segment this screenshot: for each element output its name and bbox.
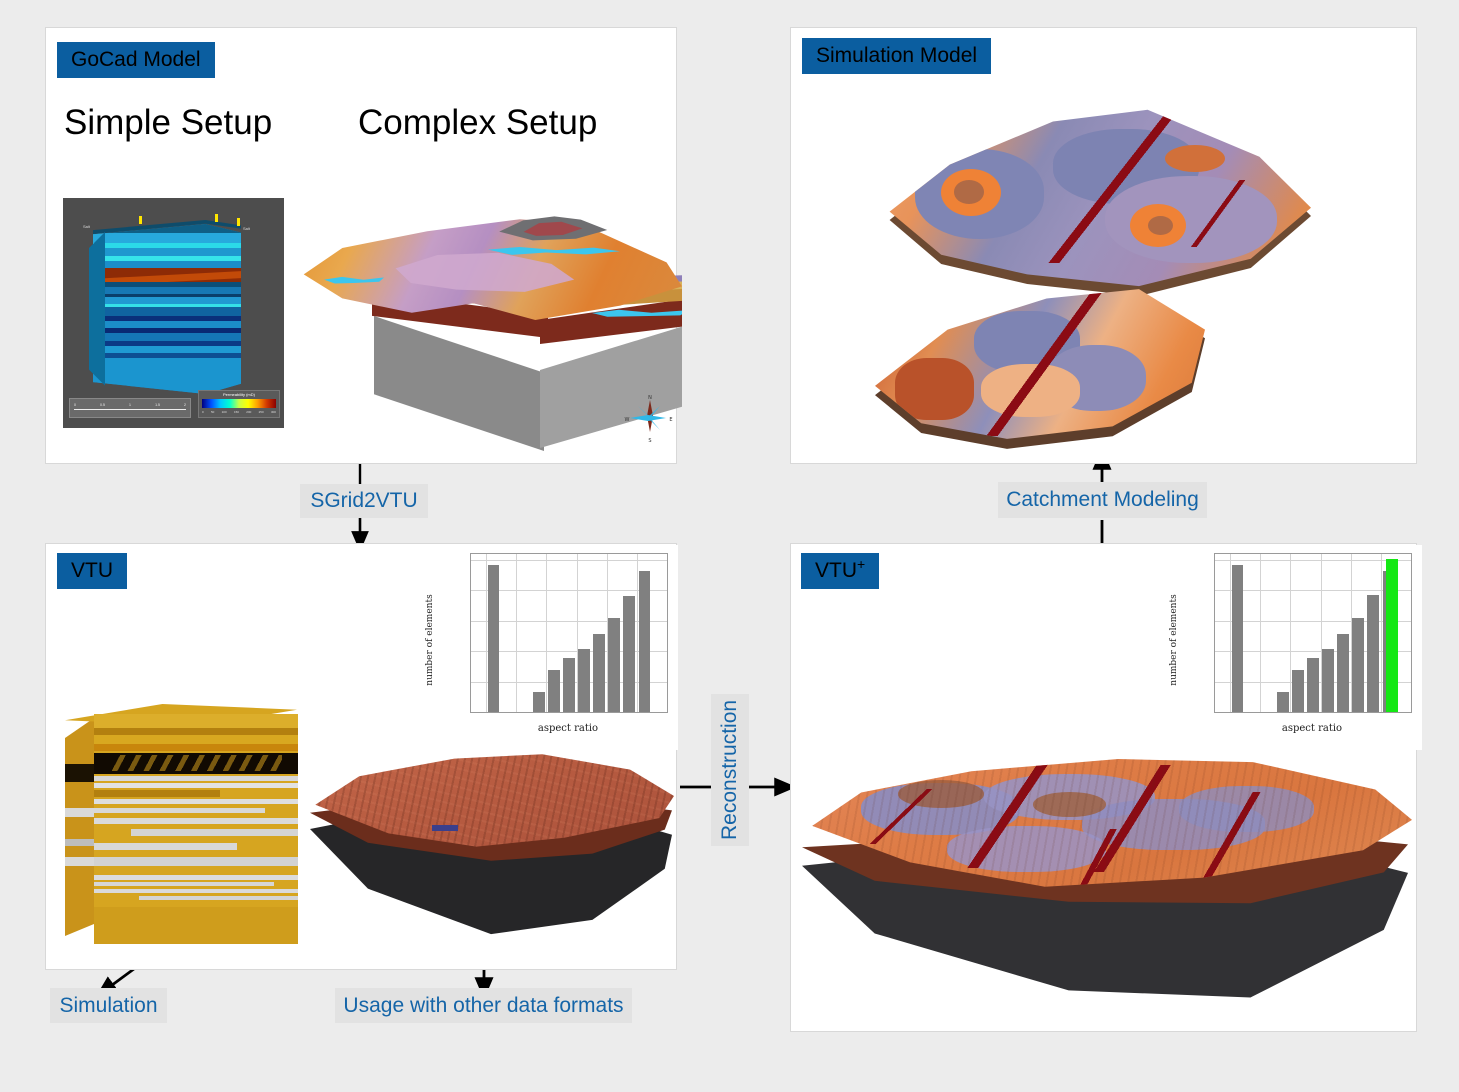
hist-y-axis-label: number of elements: [1169, 570, 1179, 710]
scale-bar: 00.511.52: [69, 398, 191, 418]
colorbar-title: Permeability (mD): [199, 392, 279, 397]
histogram-bar: [1337, 634, 1349, 712]
histogram-bar: [488, 565, 500, 712]
svg-text:N: N: [648, 395, 652, 401]
histogram-bar: [1277, 692, 1289, 712]
histogram-bar: [1322, 649, 1334, 712]
vtu-layered-block-render: [60, 688, 310, 960]
vtuplus-aspect-ratio-histogram: number of elements 10210310410510610−111…: [1152, 545, 1422, 750]
vtu-aspect-ratio-histogram: number of elements 10210310410510610−111…: [408, 545, 678, 750]
histogram-bar: [593, 634, 605, 712]
svg-text:S: S: [648, 438, 651, 444]
histogram-bar: [1352, 618, 1364, 712]
output-simulation[interactable]: Simulation: [50, 988, 167, 1023]
panel-title-vtu-plus: VTU+: [801, 553, 879, 589]
colorbar-ticks: 050100150200250300: [202, 410, 276, 415]
hist-x-axis-label: aspect ratio: [1214, 723, 1410, 734]
well-label-left: Salt: [83, 224, 90, 229]
histogram-bar: [533, 692, 545, 712]
process-catchment-modeling[interactable]: Catchment Modeling: [998, 482, 1207, 518]
compass-rose-icon: N E S W: [622, 392, 678, 444]
well-label-right: Salt: [243, 226, 250, 231]
hist-plot-area: 10210310410510610−1110−910−710−510−310−1…: [470, 553, 668, 713]
svg-text:W: W: [625, 417, 630, 423]
complex-setup-render: N E S W: [292, 196, 682, 458]
histogram-bar: [639, 571, 651, 712]
simple-setup-render: Salt Salt Permeability (mD) 050100150200…: [63, 198, 284, 428]
histogram-bar: [548, 670, 560, 712]
grid-line-vertical: [667, 554, 668, 712]
histogram-bar: [1292, 670, 1304, 712]
svg-text:E: E: [669, 417, 672, 423]
process-sgrid2vtu[interactable]: SGrid2VTU: [300, 484, 428, 518]
colorbar-ramp: [202, 399, 276, 408]
hist-plot-area: 10210310410510610−1110−910−710−510−310−1…: [1214, 553, 1412, 713]
histogram-bar: [1386, 559, 1398, 712]
panel-title-vtu: VTU: [57, 553, 127, 589]
panel-title-gocad: GoCad Model: [57, 42, 215, 78]
panel-title-vtu-plus-text: VTU: [815, 559, 857, 582]
grid-line-vertical: [516, 554, 517, 712]
simulation-model-render: [855, 82, 1355, 454]
output-usage-other-formats[interactable]: Usage with other data formats: [335, 988, 632, 1023]
heading-simple-setup: Simple Setup: [64, 103, 272, 143]
histogram-bar: [623, 596, 635, 712]
permeability-colorbar: Permeability (mD) 050100150200250300: [198, 390, 280, 418]
vtuplus-terrain-render: [792, 752, 1418, 1030]
panel-title-vtu-plus-sup: +: [857, 556, 865, 572]
histogram-bar: [1307, 658, 1319, 712]
histogram-bar: [563, 658, 575, 712]
histogram-bar: [608, 618, 620, 712]
grid-line-vertical: [1260, 554, 1261, 712]
histogram-bar: [1232, 565, 1244, 712]
histogram-bar: [1367, 595, 1379, 712]
panel-title-simulation: Simulation Model: [802, 38, 991, 74]
grid-line-vertical: [1411, 554, 1412, 712]
diagram-canvas: GoCad Model Simple Setup Complex Setup: [0, 0, 1459, 1092]
heading-complex-setup: Complex Setup: [358, 103, 597, 143]
histogram-bar: [578, 649, 590, 712]
hist-y-axis-label: number of elements: [425, 570, 435, 710]
hist-x-axis-label: aspect ratio: [470, 723, 666, 734]
panel-title-vtu-text: VTU: [71, 559, 113, 582]
process-reconstruction[interactable]: Reconstruction: [711, 694, 749, 846]
vtu-terrain-render: [302, 744, 684, 960]
